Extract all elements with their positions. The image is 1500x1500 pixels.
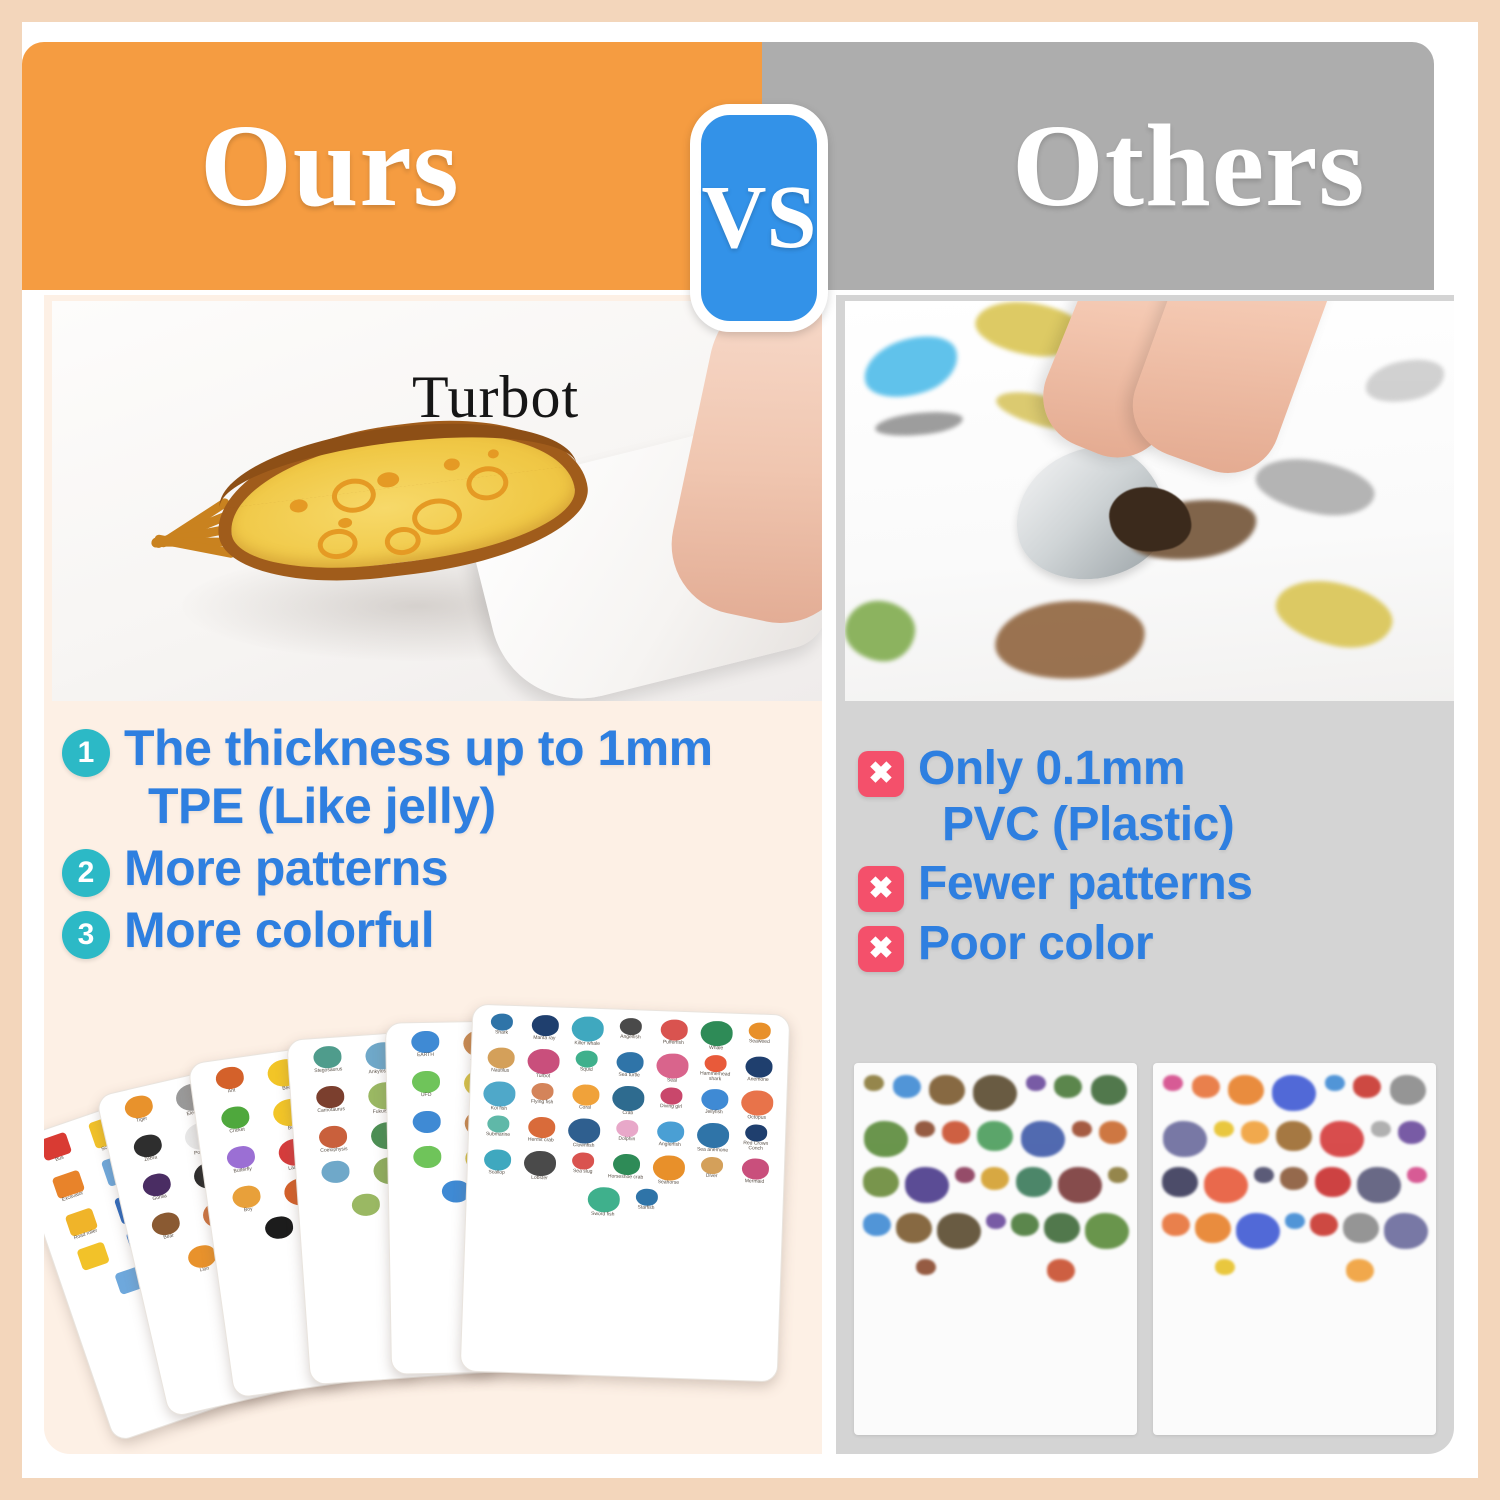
feature-number-badge: 2	[62, 849, 110, 897]
sticker-label: Whale	[696, 1045, 736, 1051]
sticker-art	[656, 1121, 684, 1143]
sticker-item	[309, 1159, 363, 1194]
background-sticker-blur	[845, 598, 918, 665]
sticker-art	[487, 1047, 515, 1069]
competitor-sticker-art	[1228, 1075, 1264, 1105]
sticker-art	[745, 1056, 773, 1078]
sticker-art	[587, 1187, 620, 1213]
sticker-item: Lobster	[519, 1150, 560, 1181]
sticker-label: Sea anemone	[692, 1147, 732, 1153]
feature-text: More patterns	[124, 839, 448, 897]
sticker-item: Octopus	[737, 1090, 778, 1121]
sticker-item: Seahorse	[648, 1155, 689, 1186]
sticker-item: Hermit crab	[521, 1116, 562, 1147]
sticker-item: Hammerhead shark	[695, 1054, 736, 1085]
competitor-sticker-art	[1236, 1213, 1280, 1249]
feature-line-1: More colorful	[124, 902, 434, 958]
competitor-sticker-art	[929, 1075, 965, 1105]
background-sticker-blur	[992, 596, 1147, 684]
sticker-item: Mermaid	[734, 1158, 775, 1189]
sticker-art	[572, 1152, 595, 1170]
sticker-item: UFO	[400, 1071, 453, 1108]
competitor-sticker-art	[1058, 1167, 1102, 1203]
sticker-item: Ant	[203, 1064, 260, 1107]
sticker-item: Koi fish	[479, 1081, 520, 1112]
sticker-label: Diving girl	[651, 1104, 691, 1110]
competitor-sticker-art	[1163, 1075, 1183, 1091]
competitor-sticker-art	[1343, 1213, 1379, 1243]
sticker-item: Coelophysis	[306, 1124, 360, 1159]
sticker-label: Coral	[565, 1105, 605, 1111]
competitor-sticker-art	[1353, 1075, 1381, 1098]
sticker-item: Pufferfish	[653, 1019, 694, 1050]
sticker-item: Clownfish	[564, 1118, 605, 1149]
sticker-label: Stegosaurus	[302, 1066, 354, 1075]
competitor-sticker-art	[1276, 1121, 1312, 1151]
sticker-art	[491, 1013, 514, 1031]
sticker-item: Coral	[565, 1084, 606, 1115]
sticker-label: Pufferfish	[653, 1040, 693, 1046]
sticker-label: Lobster	[519, 1175, 559, 1181]
sticker-item: Jellyfish	[694, 1088, 735, 1119]
background-sticker-blur	[1270, 571, 1398, 656]
sticker-label: Submarine	[478, 1132, 518, 1138]
competitor-sticker-art	[1320, 1121, 1364, 1157]
vs-badge-label: VS	[701, 173, 816, 263]
sticker-item: Anglerfish	[649, 1121, 690, 1152]
competitor-sticker-art	[1371, 1121, 1391, 1137]
others-panel: ✖ Only 0.1mm PVC (Plastic) ✖ Fewer patte…	[836, 295, 1454, 1454]
competitor-sheet-dinosaurs	[854, 1063, 1137, 1435]
sticker-item: Nautilus	[480, 1047, 521, 1078]
sticker-item: EARTH	[399, 1031, 452, 1068]
feature-line-1: Poor color	[918, 917, 1153, 970]
competitor-sticker-art	[973, 1075, 1017, 1111]
competitor-sticker-art	[1398, 1121, 1426, 1144]
sticker-art	[700, 1089, 728, 1111]
competitor-sticker-art	[1044, 1213, 1080, 1243]
competitor-sticker-art	[863, 1213, 891, 1236]
sticker-art	[612, 1086, 645, 1112]
sticker-item: Turbot	[523, 1048, 564, 1079]
competitor-sticker-art	[1310, 1213, 1338, 1236]
sticker-item: Squid	[566, 1050, 607, 1081]
sticker-art	[704, 1055, 727, 1073]
cross-icon: ✖	[858, 751, 904, 797]
background-sticker-blur	[1362, 353, 1449, 409]
sticker-label: Seal	[652, 1078, 692, 1084]
sticker-item: Butterfly	[214, 1143, 271, 1186]
competitor-sticker-art	[1407, 1167, 1427, 1183]
sticker-art	[351, 1193, 380, 1217]
sticker-item: Carnotaurus	[304, 1084, 358, 1124]
competitor-sticker-art	[1085, 1213, 1129, 1249]
sticker-art	[741, 1090, 774, 1116]
sticker-art	[635, 1188, 658, 1206]
feature-item: ✖ Fewer patterns	[858, 856, 1438, 912]
sticker-label: Carnotaurus	[305, 1106, 357, 1115]
sticker-label: Anglerfish	[650, 1142, 690, 1148]
sticker-label: Sea slug	[563, 1169, 603, 1175]
feature-text: Fewer patterns	[918, 856, 1252, 912]
sticker-label: Jellyfish	[694, 1109, 734, 1115]
competitor-sticker-art	[1384, 1213, 1428, 1249]
feature-text: Only 0.1mm PVC (Plastic)	[918, 741, 1234, 852]
sticker-label: Scallop	[477, 1170, 517, 1176]
feature-line-2: PVC (Plastic)	[918, 797, 1234, 853]
competitor-sheet-space	[1153, 1063, 1436, 1435]
sticker-art	[527, 1049, 560, 1075]
sticker-item: Shark	[481, 1013, 522, 1044]
sticker-art	[612, 1154, 640, 1176]
sticker-art	[571, 1016, 604, 1042]
sticker-art	[412, 1071, 440, 1093]
competitor-sticker-art	[1215, 1259, 1235, 1275]
sticker-item: Angelfish	[610, 1017, 651, 1048]
sticker-label: Coelophysis	[308, 1146, 360, 1155]
sticker-art	[76, 1241, 110, 1271]
sticker-item: Submarine	[478, 1115, 519, 1146]
competitor-sticker-art	[1346, 1259, 1374, 1282]
sticker-label: Sea turtle	[609, 1072, 649, 1078]
competitor-sticker-art	[1357, 1167, 1401, 1203]
feature-line-1: More patterns	[124, 840, 448, 896]
sticker-art	[620, 1018, 643, 1036]
competitor-sticker-art	[1016, 1167, 1052, 1197]
sticker-item: Gorilla	[129, 1168, 188, 1215]
sticker-art	[748, 1022, 771, 1040]
sticker-sheet-ocean: SharkManta rayKiller whaleAngelfishPuffe…	[460, 1004, 791, 1383]
sticker-art	[656, 1053, 689, 1079]
sticker-label: Ant	[206, 1085, 258, 1097]
competitor-sticker-art	[937, 1213, 981, 1249]
sticker-item: Scallop	[476, 1149, 517, 1180]
sticker-item: Stegosaurus	[301, 1044, 355, 1084]
sticker-art	[524, 1150, 557, 1176]
feature-number-badge: 3	[62, 911, 110, 959]
sticker-item: Bear	[138, 1207, 197, 1254]
sticker-label: Seahorse	[648, 1180, 688, 1186]
sticker-label: Cricket	[211, 1125, 263, 1137]
ours-panel: Turbot	[44, 295, 822, 1454]
feature-line-1: Fewer patterns	[918, 857, 1252, 910]
competitor-sticker-art	[1026, 1075, 1046, 1091]
competitor-sticker-art	[981, 1167, 1009, 1190]
sticker-item: Killer whale	[567, 1016, 608, 1047]
sticker-item: Sea slug	[562, 1152, 603, 1183]
competitor-sticker-art	[942, 1121, 970, 1144]
header-ours-title: Ours	[200, 98, 460, 234]
background-sticker-blur	[1251, 451, 1378, 523]
sticker-item	[401, 1146, 454, 1178]
sticker-art	[568, 1118, 601, 1144]
cross-icon: ✖	[858, 866, 904, 912]
header-banner: Ours Others VS	[22, 42, 1434, 290]
background-sticker-blur	[874, 408, 964, 439]
competitor-sticker-art	[1214, 1121, 1234, 1137]
sticker-item: Sea anemone	[692, 1122, 733, 1153]
sticker-item: Crab	[608, 1085, 649, 1116]
competitor-sticker-art	[1047, 1259, 1075, 1282]
sticker-art	[483, 1081, 516, 1107]
feature-line-1: The thickness up to 1mm	[124, 720, 713, 776]
competitor-sticker-art	[1241, 1121, 1269, 1144]
sticker-item	[400, 1111, 453, 1143]
sticker-label: Shark	[481, 1030, 521, 1036]
feature-text: The thickness up to 1mm TPE (Like jelly)	[124, 719, 713, 835]
feature-item: 1 The thickness up to 1mm TPE (Like jell…	[62, 719, 812, 835]
sticker-art	[411, 1031, 439, 1053]
sticker-item: Sea turtle	[609, 1051, 650, 1082]
feature-item: ✖ Only 0.1mm PVC (Plastic)	[858, 741, 1438, 852]
sticker-label: Squid	[566, 1067, 606, 1073]
competitor-sticker-art	[893, 1075, 921, 1098]
competitor-sticker-art	[1072, 1121, 1092, 1137]
competitor-sticker-art	[1254, 1167, 1274, 1183]
background-sticker-blur	[857, 326, 966, 409]
competitor-sticker-art	[986, 1213, 1006, 1229]
others-sticker-sheets	[854, 1063, 1436, 1435]
sticker-item: Boy	[219, 1182, 275, 1220]
competitor-sticker-art	[905, 1167, 949, 1203]
feature-number-badge: 1	[62, 729, 110, 777]
competitor-sticker-art	[1204, 1167, 1248, 1203]
feature-item: 2 More patterns	[62, 839, 812, 897]
sticker-item: Dolphin	[607, 1119, 648, 1150]
competitor-sticker-art	[1162, 1213, 1190, 1236]
sticker-art	[527, 1117, 555, 1139]
sticker-label: Horseshoe crab	[605, 1174, 645, 1180]
sticker-art	[660, 1087, 683, 1105]
sticker-item: Red Crown Conch	[735, 1124, 776, 1155]
sticker-item: Anemone	[738, 1056, 779, 1087]
competitor-sticker-art	[1195, 1213, 1231, 1243]
feature-item: ✖ Poor color	[858, 916, 1438, 972]
competitor-sticker-art	[955, 1167, 975, 1183]
competitor-sticker-art	[1163, 1121, 1207, 1157]
turbot-sticker-photo: Turbot	[52, 301, 822, 701]
sticker-label: Clownfish	[564, 1143, 604, 1149]
sticker-art	[652, 1155, 685, 1181]
sticker-art	[531, 1015, 559, 1037]
feature-line-1: Only 0.1mm	[918, 742, 1185, 795]
sticker-label: EARTH	[399, 1053, 451, 1059]
competitor-sticker-art	[1011, 1213, 1039, 1236]
sticker-art	[616, 1120, 639, 1138]
sticker-art	[487, 1115, 510, 1133]
competitor-sticker-art	[1054, 1075, 1082, 1098]
sticker-label: Sword fish	[583, 1212, 623, 1218]
ours-feature-list: 1 The thickness up to 1mm TPE (Like jell…	[62, 719, 812, 963]
competitor-sticker-art	[1099, 1121, 1127, 1144]
sticker-label: Butterfly	[217, 1165, 269, 1177]
feature-item: 3 More colorful	[62, 901, 812, 959]
sticker-item: Sword fish	[583, 1187, 624, 1218]
sticker-label: Killer whale	[567, 1041, 607, 1047]
competitor-sticker-art	[896, 1213, 932, 1243]
sticker-label: Angelfish	[610, 1034, 650, 1040]
sticker-art	[745, 1124, 768, 1142]
sticker-label: Red Crown Conch	[736, 1141, 776, 1152]
competitor-sticker-art	[1021, 1121, 1065, 1157]
feature-text: More colorful	[124, 901, 434, 959]
competitor-sticker-art	[977, 1121, 1013, 1151]
sticker-label: Crab	[608, 1110, 648, 1116]
sticker-label: Anemone	[738, 1077, 778, 1083]
sticker-label: Koi fish	[479, 1106, 519, 1112]
sticker-item: Seaweed	[739, 1022, 780, 1053]
sticker-art	[701, 1157, 724, 1175]
sticker-item: Diver	[691, 1156, 732, 1187]
sticker-item: Seal	[652, 1053, 693, 1084]
competitor-sticker-art	[1315, 1167, 1351, 1197]
sticker-item: Whale	[696, 1020, 737, 1051]
sticker-art	[483, 1149, 511, 1171]
feature-text: Poor color	[918, 916, 1153, 972]
sticker-label: Diver	[692, 1173, 732, 1179]
sticker-item: Diving girl	[651, 1087, 692, 1118]
comparison-infographic: Ours Others VS Turbot	[0, 0, 1500, 1500]
sticker-item: Cricket	[208, 1103, 265, 1146]
sticker-art	[660, 1019, 688, 1041]
sticker-item: Horseshoe crab	[605, 1153, 646, 1184]
sticker-label: Seaweed	[739, 1039, 779, 1045]
competitor-sticker-art	[1091, 1075, 1127, 1105]
sticker-label: Manta ray	[524, 1035, 564, 1041]
sticker-label: Octopus	[737, 1115, 777, 1121]
sticker-label: Dolphin	[607, 1136, 647, 1142]
sticker-label: UFO	[400, 1093, 452, 1099]
ours-sticker-sheet-fan: BusSchool busTruckExcavatorCarSports car…	[58, 1009, 818, 1439]
sticker-item: Flying fish	[522, 1082, 563, 1113]
competitor-sticker-art	[1192, 1075, 1220, 1098]
competitor-sticker-art	[915, 1121, 935, 1137]
sticker-art	[572, 1084, 600, 1106]
competitor-sticker-art	[1272, 1075, 1316, 1111]
header-others-title: Others	[1012, 98, 1365, 234]
competitor-sticker-art	[916, 1259, 936, 1275]
sticker-art	[412, 1111, 440, 1133]
sticker-art	[413, 1146, 441, 1168]
sticker-art	[700, 1021, 733, 1047]
sticker-art	[575, 1050, 598, 1068]
sticker-item: Manta ray	[524, 1014, 565, 1045]
sticker-label: Hammerhead shark	[695, 1071, 735, 1082]
thin-sticker-peel-photo	[845, 301, 1454, 701]
cross-icon: ✖	[858, 926, 904, 972]
competitor-sticker-art	[1390, 1075, 1426, 1105]
competitor-sticker-art	[1162, 1167, 1198, 1197]
competitor-sticker-art	[864, 1075, 884, 1091]
sticker-art	[263, 1215, 294, 1241]
sticker-item: Tiger	[111, 1091, 170, 1138]
sticker-label: Flying fish	[522, 1099, 562, 1105]
competitor-sticker-art	[1325, 1075, 1345, 1091]
sticker-art	[741, 1158, 769, 1180]
sticker-item: Starfish	[626, 1188, 667, 1219]
sticker-label: Starfish	[626, 1205, 666, 1211]
others-feature-list: ✖ Only 0.1mm PVC (Plastic) ✖ Fewer patte…	[858, 741, 1438, 976]
sticker-label: Hermit crab	[521, 1137, 561, 1143]
sticker-label: Nautilus	[480, 1068, 520, 1074]
competitor-sticker-art	[1108, 1167, 1128, 1183]
competitor-sticker-art	[1285, 1213, 1305, 1229]
sticker-item	[339, 1192, 393, 1223]
vs-badge: VS	[690, 104, 828, 332]
sticker-label: Turbot	[523, 1073, 563, 1079]
sticker-item: Zebra	[120, 1129, 179, 1176]
competitor-sticker-art	[1280, 1167, 1308, 1190]
sticker-art	[321, 1160, 350, 1184]
feature-line-2: TPE (Like jelly)	[124, 777, 713, 835]
sticker-art	[697, 1122, 730, 1148]
sticker-art	[616, 1052, 644, 1074]
sticker-label: Boy	[222, 1204, 274, 1216]
competitor-sticker-art	[864, 1121, 908, 1157]
sticker-art	[531, 1083, 554, 1101]
sticker-label: Mermaid	[734, 1179, 774, 1185]
competitor-sticker-art	[863, 1167, 899, 1197]
